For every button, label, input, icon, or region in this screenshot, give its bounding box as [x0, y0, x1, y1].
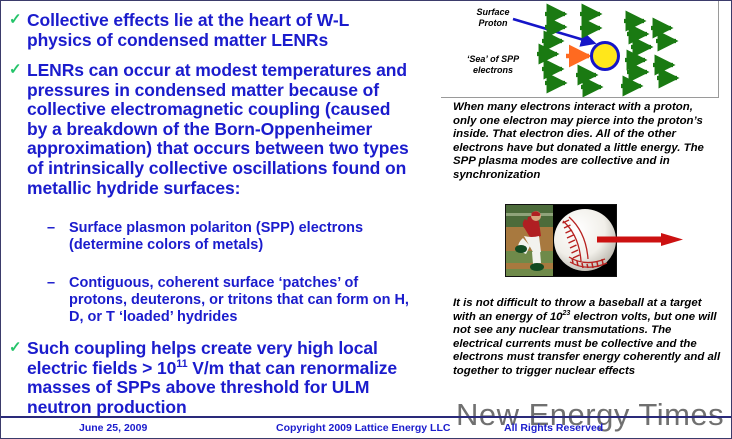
red-motion-arrow-icon	[597, 233, 683, 246]
footer-rights: All Rights Reserved	[504, 422, 603, 434]
top-caption: When many electrons interact with a prot…	[453, 101, 719, 183]
bottom-caption: It is not difficult to throw a baseball …	[453, 297, 721, 379]
bullet-item-2: ✓ LENRs can occur at modest temperatures…	[9, 61, 411, 198]
footer-copyright: Copyright 2009 Lattice Energy LLC	[276, 422, 450, 434]
proton-pointer-arrow-icon	[441, 1, 719, 98]
footer-date: June 25, 2009	[79, 422, 147, 434]
sub-bullet-item-2: – Contiguous, coherent surface ‘patches’…	[47, 275, 409, 326]
sub-bullet-item-1: – Surface plasmon polariton (SPP) electr…	[47, 220, 407, 254]
bullet-text: Such coupling helps create very high loc…	[27, 339, 409, 417]
baseball-pitcher-photo	[506, 205, 553, 276]
pitcher-illustration-icon	[506, 205, 553, 276]
check-icon: ✓	[9, 11, 27, 29]
bullet-text: Collective effects lie at the heart of W…	[27, 11, 409, 50]
dash-marker-icon: –	[47, 275, 69, 292]
bullet-item-1: ✓ Collective effects lie at the heart of…	[9, 11, 409, 50]
bullet-text: LENRs can occur at modest temperatures a…	[27, 61, 411, 198]
slide-canvas: ✓ Collective effects lie at the heart of…	[0, 0, 732, 439]
slide-footer: June 25, 2009 Copyright 2009 Lattice Ene…	[1, 416, 731, 438]
sub-bullet-text: Surface plasmon polariton (SPP) electron…	[69, 220, 407, 254]
bullet-list: ✓ Collective effects lie at the heart of…	[1, 1, 419, 411]
check-icon: ✓	[9, 61, 27, 79]
sub-bullet-text: Contiguous, coherent surface ‘patches’ o…	[69, 275, 409, 326]
spp-proton-diagram: Surface Proton ‘Sea’ of SPP electrons	[441, 1, 719, 98]
dash-marker-icon: –	[47, 220, 69, 237]
exponent: 11	[176, 358, 187, 370]
check-icon: ✓	[9, 339, 27, 357]
proton-circle-icon	[590, 41, 620, 71]
bullet-item-3: ✓ Such coupling helps create very high l…	[9, 339, 409, 417]
